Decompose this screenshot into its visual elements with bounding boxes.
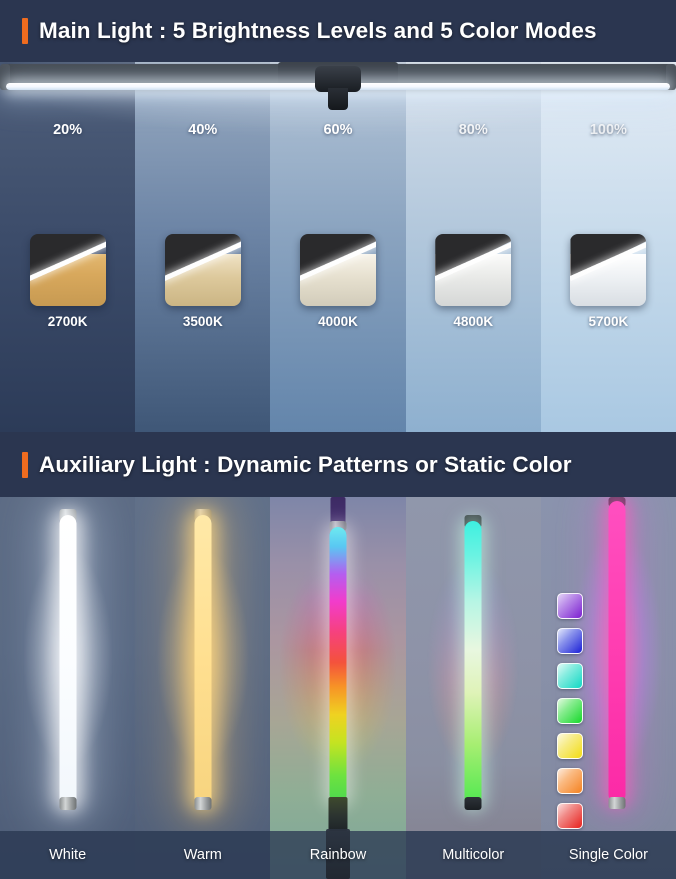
tube-base-rainbow xyxy=(329,797,348,831)
aux-label-band-warm: Warm xyxy=(135,831,270,879)
aux-mode-rainbow: Rainbow xyxy=(270,497,405,879)
tube-cap-bottom xyxy=(59,797,76,810)
aux-mode-warm: Warm xyxy=(135,497,270,879)
aux-label-band-single-color: Single Color xyxy=(541,831,676,879)
brightness-label-row: 20% 40% 60% 80% 100% xyxy=(0,122,676,138)
aux-label-band-white: White xyxy=(0,831,135,879)
main-light-section-header: Main Light : 5 Brightness Levels and 5 C… xyxy=(0,0,676,62)
cct-label-2700k: 2700K xyxy=(48,314,88,329)
auxiliary-light-section: White Warm xyxy=(0,497,676,879)
color-swatch-list[interactable] xyxy=(557,593,583,829)
main-light-title: Main Light : 5 Brightness Levels and 5 C… xyxy=(39,18,597,44)
aux-scene-rainbow xyxy=(270,497,405,831)
product-infographic: Main Light : 5 Brightness Levels and 5 C… xyxy=(0,0,676,879)
cct-cell-2700k: 2700K xyxy=(0,234,135,329)
cct-cell-3500k: 3500K xyxy=(135,234,270,329)
tube-cap-bottom xyxy=(465,797,482,810)
brightness-label-20: 20% xyxy=(0,122,135,138)
swatch-yellow[interactable] xyxy=(557,733,583,759)
aux-label-multicolor: Multicolor xyxy=(442,847,504,863)
cct-card-3500k xyxy=(165,234,241,306)
lamp-mount-stem xyxy=(328,88,348,110)
swatch-cyan[interactable] xyxy=(557,663,583,689)
cct-card-4800k xyxy=(435,234,511,306)
brightness-label-40: 40% xyxy=(135,122,270,138)
main-light-section: 20% 40% 60% 80% 100% 2700K xyxy=(0,62,676,432)
cct-card-2700k xyxy=(30,234,106,306)
color-temperature-row: 2700K 3500K 4000K xyxy=(0,234,676,329)
aux-scene-multicolor xyxy=(406,497,541,831)
tube-cap-bottom xyxy=(194,797,211,810)
light-tube-rainbow xyxy=(330,527,347,803)
aux-label-rainbow: Rainbow xyxy=(310,847,366,863)
cct-cell-4800k: 4800K xyxy=(406,234,541,329)
aux-scene-white xyxy=(0,497,135,831)
cct-label-3500k: 3500K xyxy=(183,314,223,329)
auxiliary-light-title: Auxiliary Light : Dynamic Patterns or St… xyxy=(39,452,572,478)
aux-label-band-multicolor: Multicolor xyxy=(406,831,541,879)
accent-bar-icon xyxy=(22,18,28,44)
aux-label-single-color: Single Color xyxy=(569,847,648,863)
cct-cell-4000k: 4000K xyxy=(270,234,405,329)
aux-mode-white: White xyxy=(0,497,135,879)
cct-label-4800k: 4800K xyxy=(453,314,493,329)
brightness-label-60: 60% xyxy=(270,122,405,138)
swatch-red[interactable] xyxy=(557,803,583,829)
light-tube-warm xyxy=(194,515,211,807)
aux-label-white: White xyxy=(49,847,86,863)
swatch-purple[interactable] xyxy=(557,593,583,619)
cct-label-4000k: 4000K xyxy=(318,314,358,329)
desk-lamp-bar xyxy=(0,62,676,102)
light-tube-multicolor xyxy=(465,521,482,807)
aux-mode-single-color: Single Color xyxy=(541,497,676,879)
swatch-orange[interactable] xyxy=(557,768,583,794)
cct-label-5700k: 5700K xyxy=(589,314,629,329)
aux-mode-multicolor: Multicolor xyxy=(406,497,541,879)
tube-cap-bottom xyxy=(608,797,625,809)
brightness-label-80: 80% xyxy=(406,122,541,138)
light-tube-single-color xyxy=(608,501,625,803)
swatch-green[interactable] xyxy=(557,698,583,724)
brightness-label-100: 100% xyxy=(541,122,676,138)
aux-label-band-rainbow: Rainbow xyxy=(270,831,405,879)
cct-card-4000k xyxy=(300,234,376,306)
aux-scene-warm xyxy=(135,497,270,831)
light-tube-white xyxy=(59,515,76,807)
aux-scene-single-color xyxy=(541,497,676,831)
auxiliary-light-section-header: Auxiliary Light : Dynamic Patterns or St… xyxy=(0,432,676,497)
aux-label-warm: Warm xyxy=(184,847,222,863)
cct-cell-5700k: 5700K xyxy=(541,234,676,329)
swatch-blue[interactable] xyxy=(557,628,583,654)
cct-card-5700k xyxy=(570,234,646,306)
accent-bar-icon xyxy=(22,452,28,478)
